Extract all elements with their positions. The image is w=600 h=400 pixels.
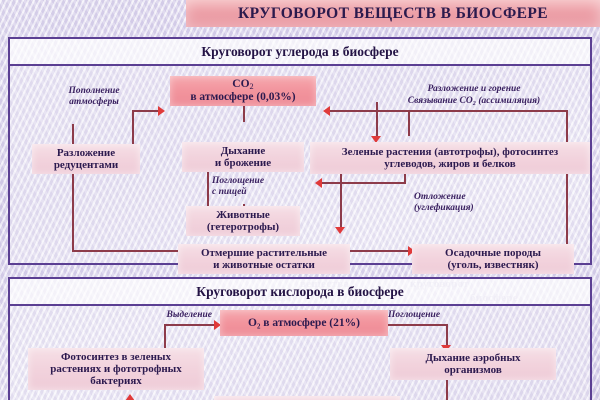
- box-aerobic-respiration: Дыхание аэробных организмов: [390, 348, 556, 380]
- arrowhead-plants-to-animals: [315, 178, 322, 188]
- box-co2-atmosphere: CO2в атмосфере (0,03%): [170, 76, 316, 106]
- connector-remains-to-decomposition: [72, 250, 182, 252]
- box-dead-remains: Отмершие растительные и животные остатки: [178, 244, 350, 274]
- label-decay-and-burning: Разложение и горение: [358, 84, 590, 95]
- box-o2-atmosphere: O₂ в атмосфере (21%): [220, 310, 388, 336]
- connector-rocks-vertical: [566, 110, 568, 250]
- box-co2-atmosphere-oxygen: CO₂ в атмосфере: [214, 396, 400, 400]
- connector-respiration-down: [446, 380, 448, 400]
- box-green-plants: Зеленые растения (автотрофы), фотосинтез…: [310, 142, 590, 174]
- label-deposition-carbonification: Отложение (углефикация): [414, 192, 524, 214]
- arrowhead-co2-to-photosynthesis: [125, 394, 135, 400]
- label-absorption-right: Поглощение: [388, 310, 484, 321]
- arrowhead-plants-to-remains: [335, 227, 345, 234]
- arrowhead-decomposition-to-co2: [158, 106, 165, 116]
- connector-plants-to-animals: [322, 182, 406, 184]
- page-title-band: КРУГОВОРОТ ВЕЩЕСТВ В БИОСФЕРЕ: [186, 0, 600, 27]
- connector-plants-to-co2: [330, 110, 410, 112]
- connector-remains-to-rocks: [350, 250, 412, 252]
- connector-plants-up: [408, 110, 410, 136]
- carbon-cycle-body: CO2в атмосфере (0,03%) Разложение редуце…: [10, 64, 590, 263]
- label-atmosphere-replenishment: Пополнение атмосферы: [44, 86, 144, 108]
- connector-respiration-up: [243, 104, 245, 122]
- oxygen-cycle-header: Круговорот кислорода в биосфере: [10, 279, 590, 306]
- box-animals-heterotrophs: Животные (гетеротрофы): [186, 206, 300, 236]
- connector-co2-to-plants: [376, 102, 378, 138]
- oxygen-cycle-body: O₂ в атмосфере (21%) Фотосинтез в зелены…: [10, 304, 590, 400]
- carbon-cycle-panel: Круговорот углерода в биосфере: [8, 37, 592, 265]
- box-respiration-fermentation: Дыхание и брожение: [182, 142, 304, 172]
- carbon-cycle-header: Круговорот углерода в биосфере: [10, 39, 590, 66]
- box-photosynthesis: Фотосинтез в зеленых растениях и фототро…: [28, 348, 204, 390]
- label-co2-binding: Связывание CO₂ (ассимиляция): [358, 96, 590, 107]
- page-canvas: вещества поэтому круговорот биосфере КРУ…: [0, 0, 600, 400]
- box-decomposition-by-reducers: Разложение редуцентами: [32, 144, 140, 174]
- label-release-left: Выделение: [116, 310, 212, 321]
- arrowhead-plants-to-co2: [323, 106, 330, 116]
- box-sedimentary-rocks: Осадочные породы (уголь, известняк): [412, 244, 574, 274]
- page-title: КРУГОВОРОТ ВЕЩЕСТВ В БИОСФЕРЕ: [238, 5, 548, 23]
- connector-rocks-top: [410, 110, 568, 112]
- carbon-cycle-heading: Круговорот углерода в биосфере: [201, 44, 398, 60]
- connector-photosynthesis-right: [164, 324, 216, 326]
- oxygen-cycle-heading: Круговорот кислорода в биосфере: [196, 284, 403, 300]
- label-uptake-with-food: Поглощение с пищей: [212, 176, 312, 198]
- connector-decomposition-right: [132, 110, 160, 112]
- box-co2-atmosphere-text: CO2в атмосфере (0,03%): [190, 78, 295, 104]
- connector-o2-right: [388, 324, 448, 326]
- oxygen-cycle-panel: Круговорот кислорода в биосфере O₂ в атм…: [8, 277, 592, 400]
